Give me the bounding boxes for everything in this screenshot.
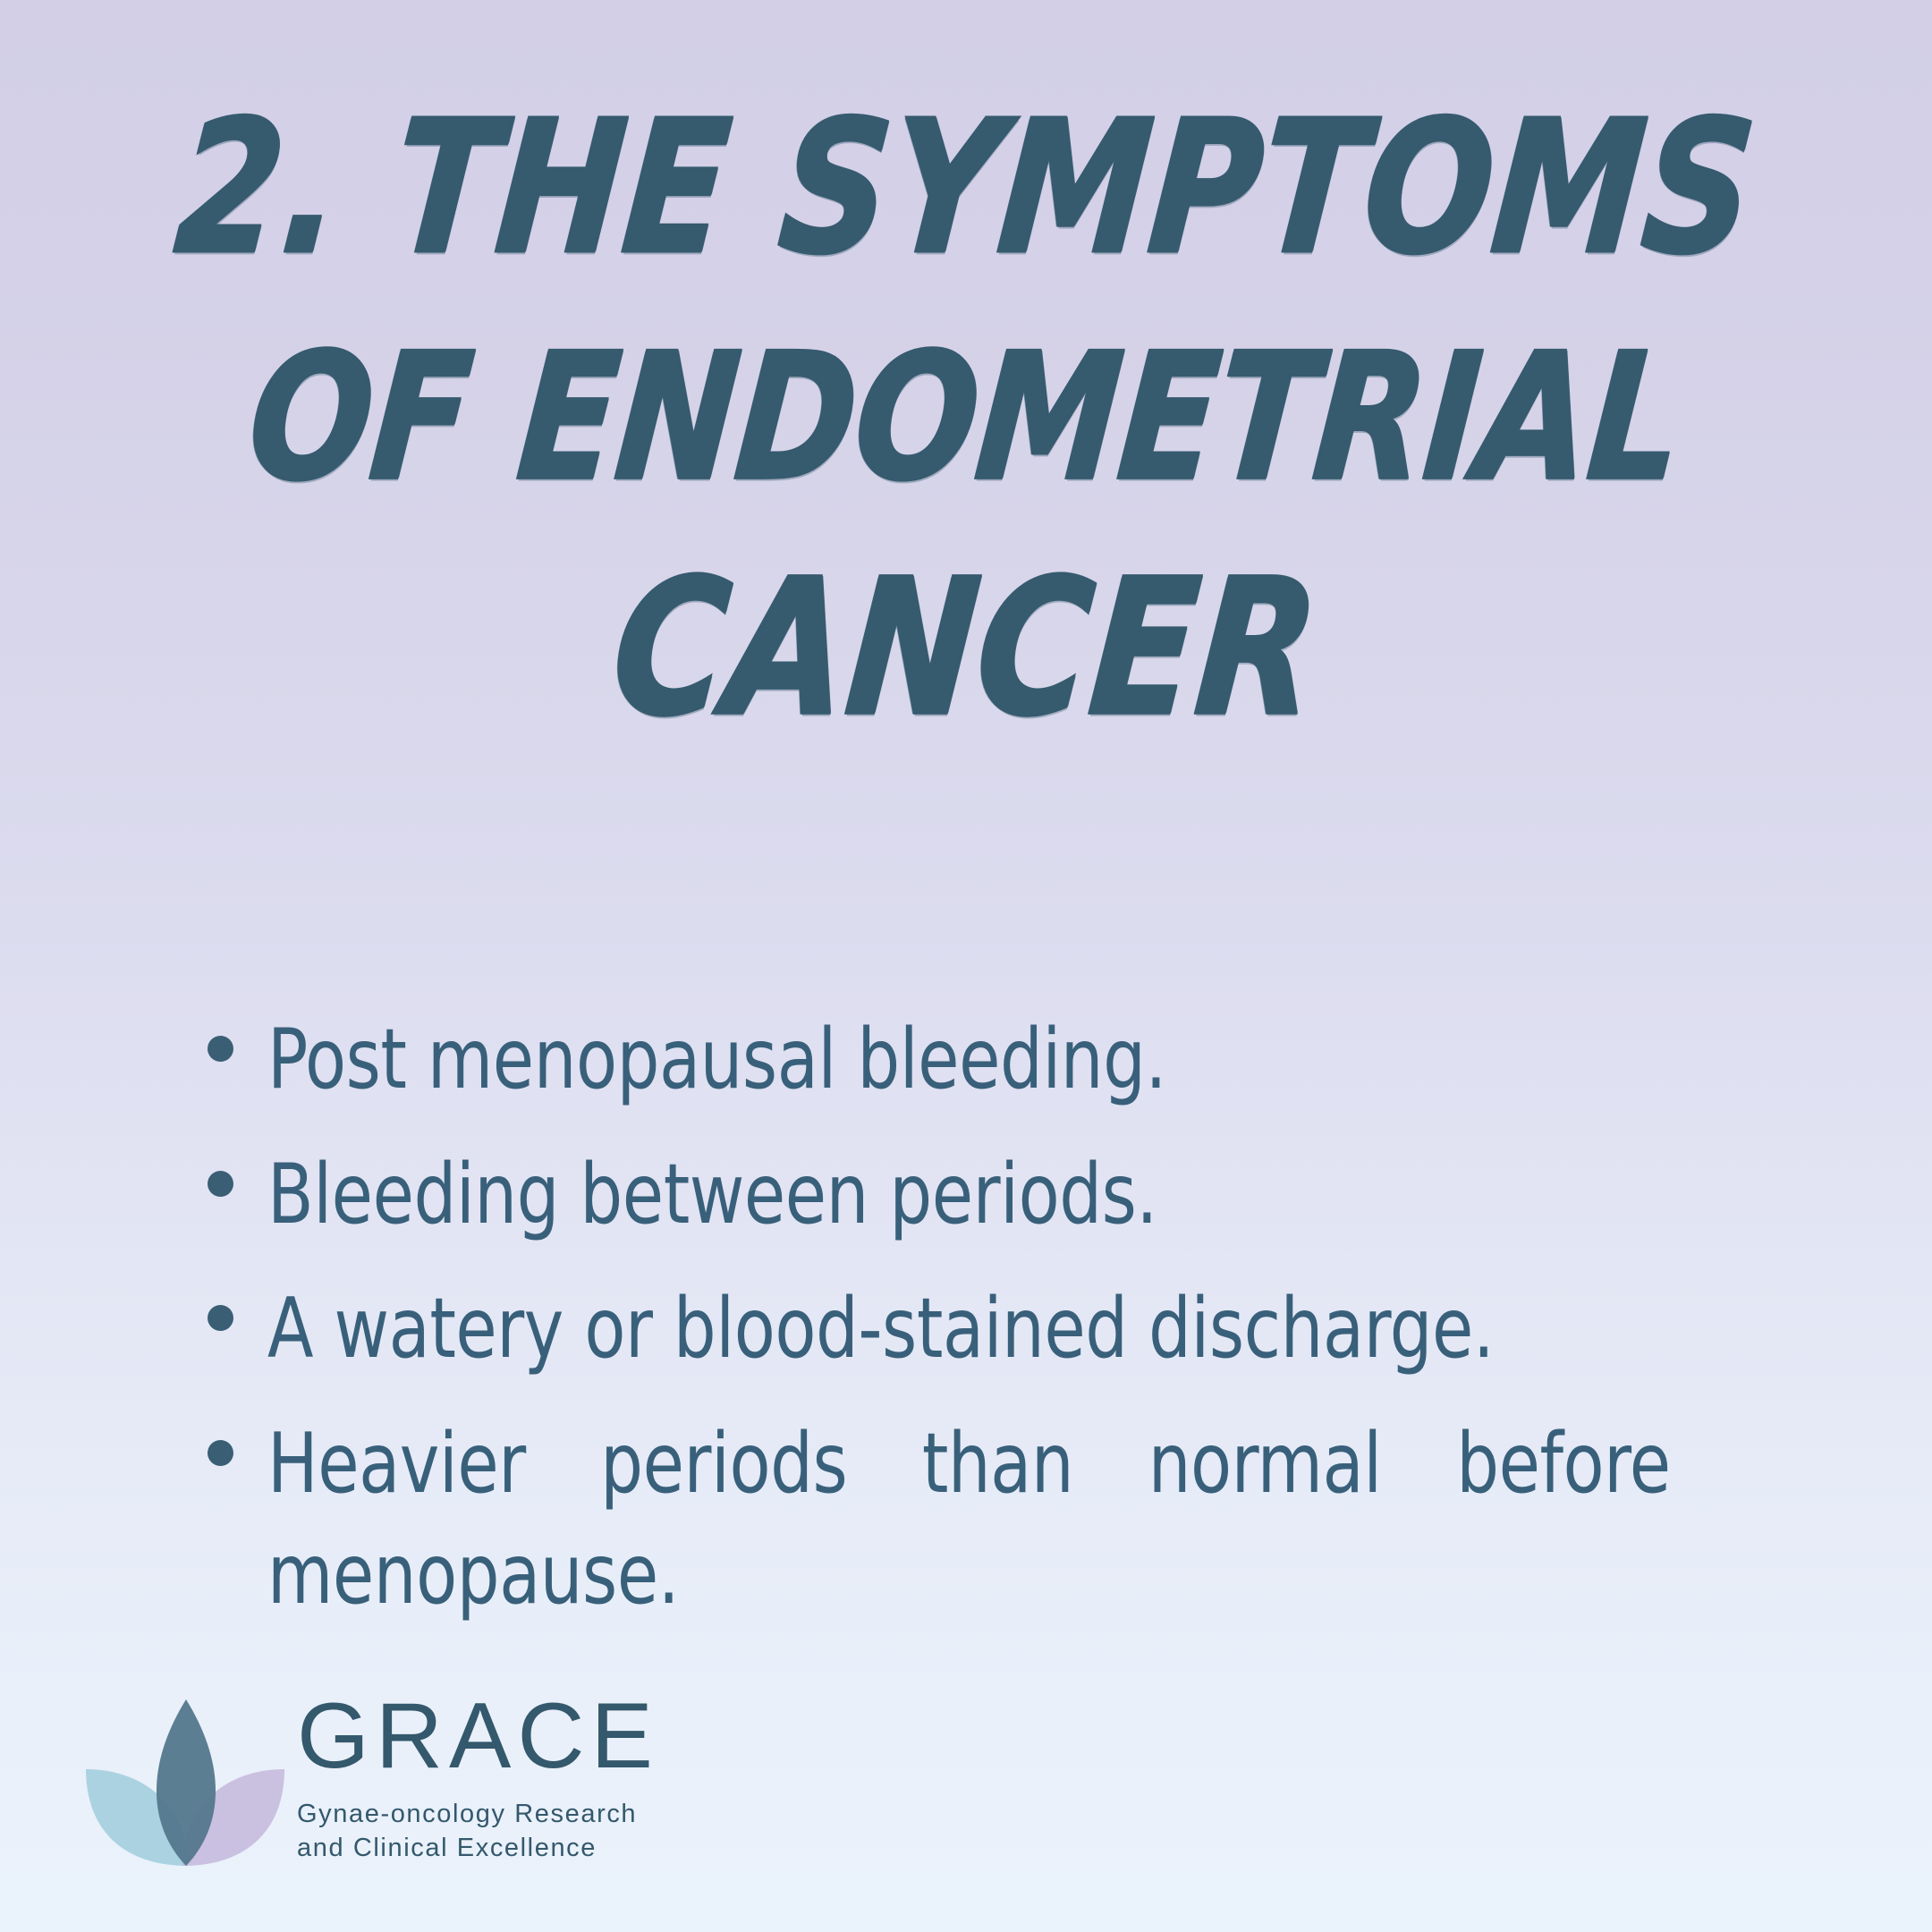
title-line-2: OF ENDOMETRIAL <box>0 332 1932 503</box>
list-item-label: Heavier periods than normal before menop… <box>267 1408 1671 1631</box>
list-item-label: Bleeding between periods. <box>267 1139 1671 1250</box>
list-item: Post menopausal bleeding. <box>208 1004 1826 1115</box>
bullet-dot-icon <box>208 1440 233 1466</box>
logo-tagline: Gynae-oncology Research and Clinical Exc… <box>297 1797 659 1866</box>
logo-tagline-line-2: and Clinical Excellence <box>297 1831 659 1865</box>
bullet-dot-icon <box>208 1036 233 1062</box>
logo-wordmark: GRACE <box>297 1690 659 1783</box>
list-item: Bleeding between periods. <box>208 1139 1826 1250</box>
page-title: 2. THE SYMPTOMS OF ENDOMETRIAL CANCER <box>0 114 1932 724</box>
logo-text-block: GRACE Gynae-oncology Research and Clinic… <box>297 1690 659 1866</box>
list-item: Heavier periods than normal before menop… <box>208 1408 1826 1631</box>
bullet-dot-icon <box>208 1305 233 1331</box>
title-line-3: CANCER <box>0 557 1932 741</box>
list-item-label: A watery or blood-stained discharge. <box>267 1273 1671 1385</box>
grace-logo: GRACE Gynae-oncology Research and Clinic… <box>86 1683 659 1871</box>
list-item: A watery or blood-stained discharge. <box>208 1273 1826 1385</box>
bullet-dot-icon <box>208 1171 233 1197</box>
lotus-flower-icon <box>86 1683 284 1871</box>
title-line-1: 2. THE SYMPTOMS <box>0 98 1932 278</box>
logo-tagline-line-1: Gynae-oncology Research <box>297 1797 659 1831</box>
symptom-list: Post menopausal bleeding. Bleeding betwe… <box>208 1004 1826 1654</box>
list-item-label: Post menopausal bleeding. <box>267 1004 1671 1115</box>
infographic-card: 2. THE SYMPTOMS OF ENDOMETRIAL CANCER Po… <box>0 0 1932 1932</box>
